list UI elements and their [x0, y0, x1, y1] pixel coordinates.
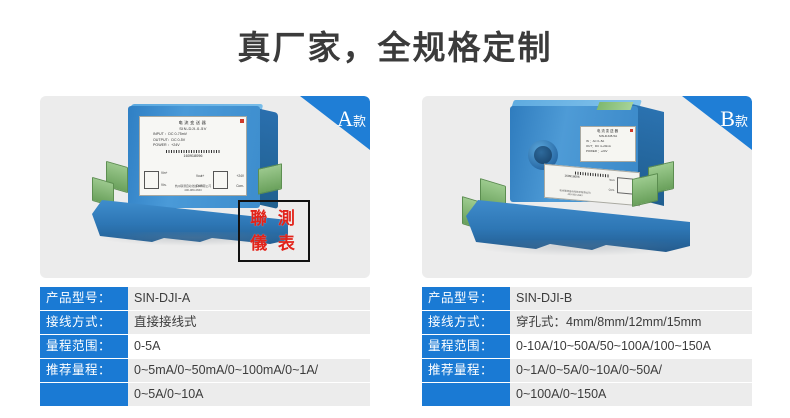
device-nameplate-a: 电流变送器 SIN-DJI-0-5V INPUT ：DC 0-75mV OUTP… [139, 116, 247, 196]
device-shadow-b [472, 240, 688, 256]
page-title: 真厂家，全规格定制 [0, 26, 790, 70]
nameplate-power-a: POWER ：+24V [144, 143, 242, 149]
spec-value: 0~5mA/0~50mA/0~100mA/0~1A/ [128, 359, 370, 382]
table-row: 接线方式： 直接接线式 [40, 311, 370, 334]
corner-badge-letter-a: A [337, 106, 353, 131]
terminal-block-a-3 [258, 163, 282, 195]
table-row: 产品型号： SIN-DJI-B [422, 287, 752, 310]
table-row: 接线方式： 穿孔式：4mm/8mm/12mm/15mm [422, 311, 752, 334]
nameplate-pin-iout-b: Iout+ [609, 179, 615, 183]
nameplate-pin-vout-a: Vout+ [196, 174, 204, 178]
spec-key [422, 383, 510, 406]
through-hole-aperture-inner-b [534, 146, 552, 164]
product-comparison-page: 真厂家，全规格定制 电流变送器 SIN-DJI-0-5V INPUT ：DC 0… [0, 0, 790, 418]
spec-value: 0-5A [128, 335, 370, 358]
spec-key: 产品型号： [422, 287, 510, 310]
spec-key: 推荐量程： [422, 359, 510, 382]
nameplate-pin-com-b: Com- [609, 188, 615, 192]
product-column-a: 电流变送器 SIN-DJI-0-5V INPUT ：DC 0-75mV OUTP… [40, 96, 370, 278]
nameplate-serial-a: 160918096 [144, 153, 242, 159]
nameplate-seal-dot-b [630, 129, 633, 132]
spec-key: 产品型号： [40, 287, 128, 310]
product-photo-panel-a: 电流变送器 SIN-DJI-0-5V INPUT ：DC 0-75mV OUTP… [40, 96, 370, 278]
watermark-line-1: 聯 測 [250, 206, 298, 231]
spec-key: 量程范围： [422, 335, 510, 358]
spec-key: 推荐量程： [40, 359, 128, 382]
corner-badge-letter-b: B [720, 106, 735, 131]
table-row: 量程范围： 0-10A/10~50A/50~100A/100~150A [422, 335, 752, 358]
nameplate-seal-dot-a [240, 119, 244, 123]
nameplate-power-b: POWER ：+24V [583, 149, 633, 154]
device-nameplate-b: 电流变送器 SIN-DJI-B-5A IN ：AC 0~5A OUT：DC 4~… [580, 126, 636, 162]
spec-value: 穿孔式：4mm/8mm/12mm/15mm [510, 311, 752, 334]
spec-value: SIN-DJI-A [128, 287, 370, 310]
spec-key [40, 383, 128, 406]
spec-value: 0-10A/10~50A/50~100A/100~150A [510, 335, 752, 358]
table-row: 产品型号： SIN-DJI-A [40, 287, 370, 310]
corner-badge-a: A款 [300, 96, 370, 150]
spec-key: 接线方式： [40, 311, 128, 334]
device-top-green-strip-b [597, 102, 634, 110]
terminal-block-b-4 [632, 173, 658, 207]
device-illustration-b: 电流变送器 SIN-DJI-B-5A IN ：AC 0~5A OUT：DC 4~… [462, 102, 712, 268]
spec-value: 直接接线式 [128, 311, 370, 334]
spec-key: 量程范围： [40, 335, 128, 358]
table-row: 推荐量程： 0~1A/0~5A/0~10A/0~50A/ [422, 359, 752, 382]
table-row: 0~100A/0~150A [422, 383, 752, 406]
spec-value: 0~100A/0~150A [510, 383, 752, 406]
product-photo-panel-b: 电流变送器 SIN-DJI-B-5A IN ：AC 0~5A OUT：DC 4~… [422, 96, 752, 278]
table-row: 0~5A/0~10A [40, 383, 370, 406]
watermark-line-2: 儀 表 [250, 231, 298, 256]
spec-table-a: 产品型号： SIN-DJI-A 接线方式： 直接接线式 量程范围： 0-5A 推… [40, 287, 370, 407]
table-row: 推荐量程： 0~5mA/0~50mA/0~100mA/0~1A/ [40, 359, 370, 382]
product-column-b: 电流变送器 SIN-DJI-B-5A IN ：AC 0~5A OUT：DC 4~… [422, 96, 752, 278]
spec-value: SIN-DJI-B [510, 287, 752, 310]
table-row: 量程范围： 0-5A [40, 335, 370, 358]
corner-badge-b: B款 [682, 96, 752, 150]
nameplate-phone-a: 400-080-2663 [140, 188, 246, 192]
nameplate-pin-24v-a: +24V [236, 174, 244, 178]
nameplate-pin-vin-plus-a: Vin+ [161, 171, 167, 175]
spec-value: 0~1A/0~5A/0~10A/0~50A/ [510, 359, 752, 382]
watermark-box: 聯 測 儀 表 [238, 200, 310, 262]
nameplate-pin-block-b [617, 177, 633, 194]
spec-table-b: 产品型号： SIN-DJI-B 接线方式： 穿孔式：4mm/8mm/12mm/1… [422, 287, 752, 407]
corner-badge-suffix-b: 款 [735, 114, 748, 129]
corner-badge-suffix-a: 款 [353, 114, 366, 129]
spec-value: 0~5A/0~10A [128, 383, 370, 406]
spec-key: 接线方式： [422, 311, 510, 334]
